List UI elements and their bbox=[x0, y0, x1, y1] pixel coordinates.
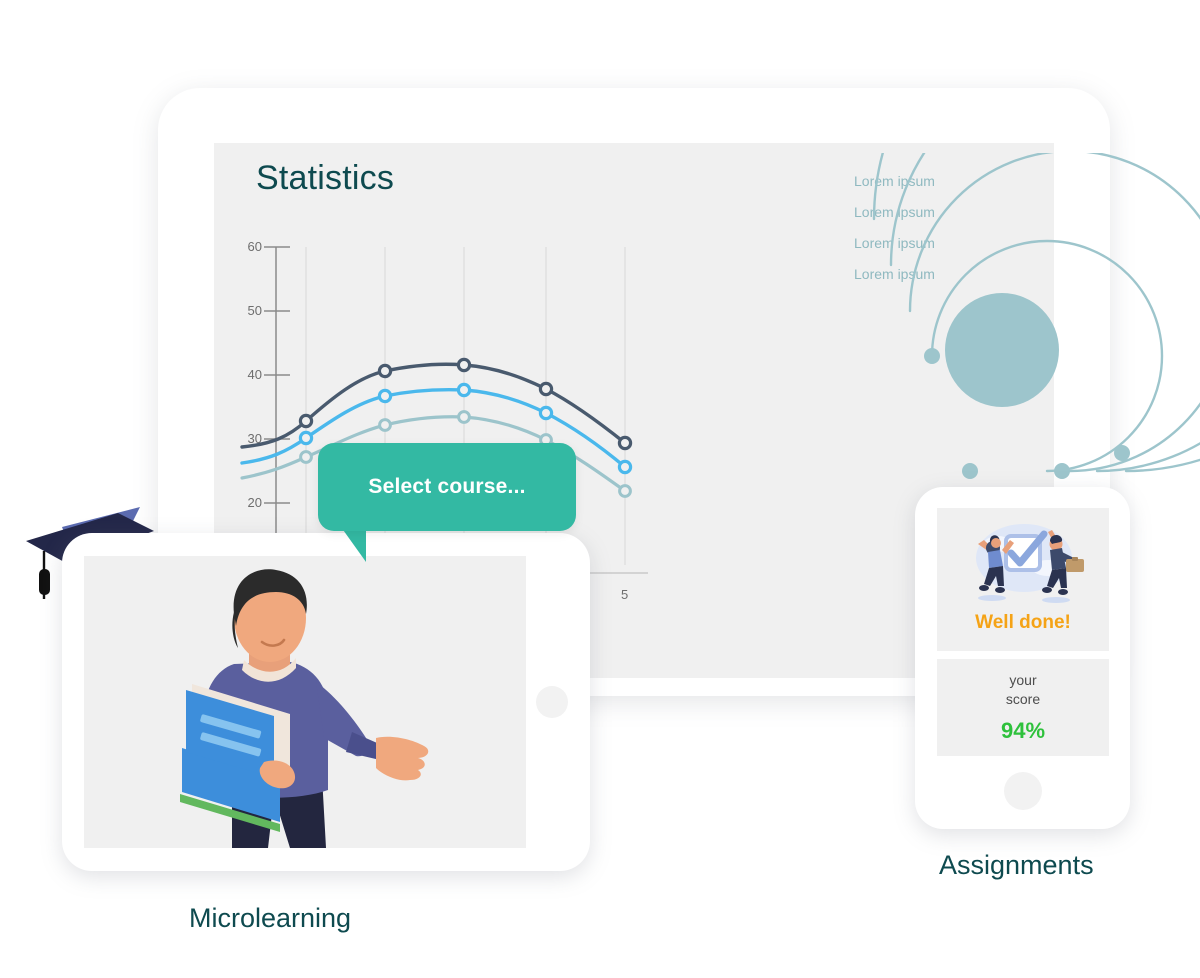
page-title: Statistics bbox=[256, 159, 394, 198]
orbit-endpoint-1 bbox=[924, 348, 940, 364]
caption-microlearning: Microlearning bbox=[189, 903, 351, 934]
score-label-line2: score bbox=[1006, 690, 1040, 709]
student-illustration bbox=[84, 556, 526, 848]
tablet-home-button[interactable] bbox=[536, 686, 568, 718]
orbit-endpoint-2 bbox=[962, 463, 978, 479]
microlearning-tablet-screen bbox=[84, 556, 526, 848]
celebration-illustration bbox=[948, 514, 1098, 610]
phone-home-button[interactable] bbox=[1004, 772, 1042, 810]
orbit-endpoint-4 bbox=[1114, 445, 1130, 461]
score-card: your score 94% bbox=[937, 659, 1109, 756]
microlearning-tablet bbox=[62, 533, 590, 871]
score-value: 94% bbox=[1001, 718, 1045, 744]
assignments-phone: Well done! your score 94% bbox=[915, 487, 1130, 829]
orbit-endpoint-3 bbox=[1054, 463, 1070, 479]
well-done-card: Well done! bbox=[937, 508, 1109, 651]
score-label-line1: your bbox=[1009, 671, 1036, 690]
y-axis bbox=[264, 247, 290, 565]
well-done-label: Well done! bbox=[975, 612, 1071, 634]
select-course-bubble[interactable]: Select course... bbox=[318, 443, 576, 531]
orbit-center-node bbox=[945, 293, 1059, 407]
speech-bubble-label: Select course... bbox=[368, 475, 525, 499]
illustration-stage: Statistics 60 50 40 30 20 5 bbox=[0, 0, 1200, 978]
orbit-arc-2 bbox=[910, 153, 1200, 471]
caption-assignments: Assignments bbox=[939, 850, 1094, 881]
